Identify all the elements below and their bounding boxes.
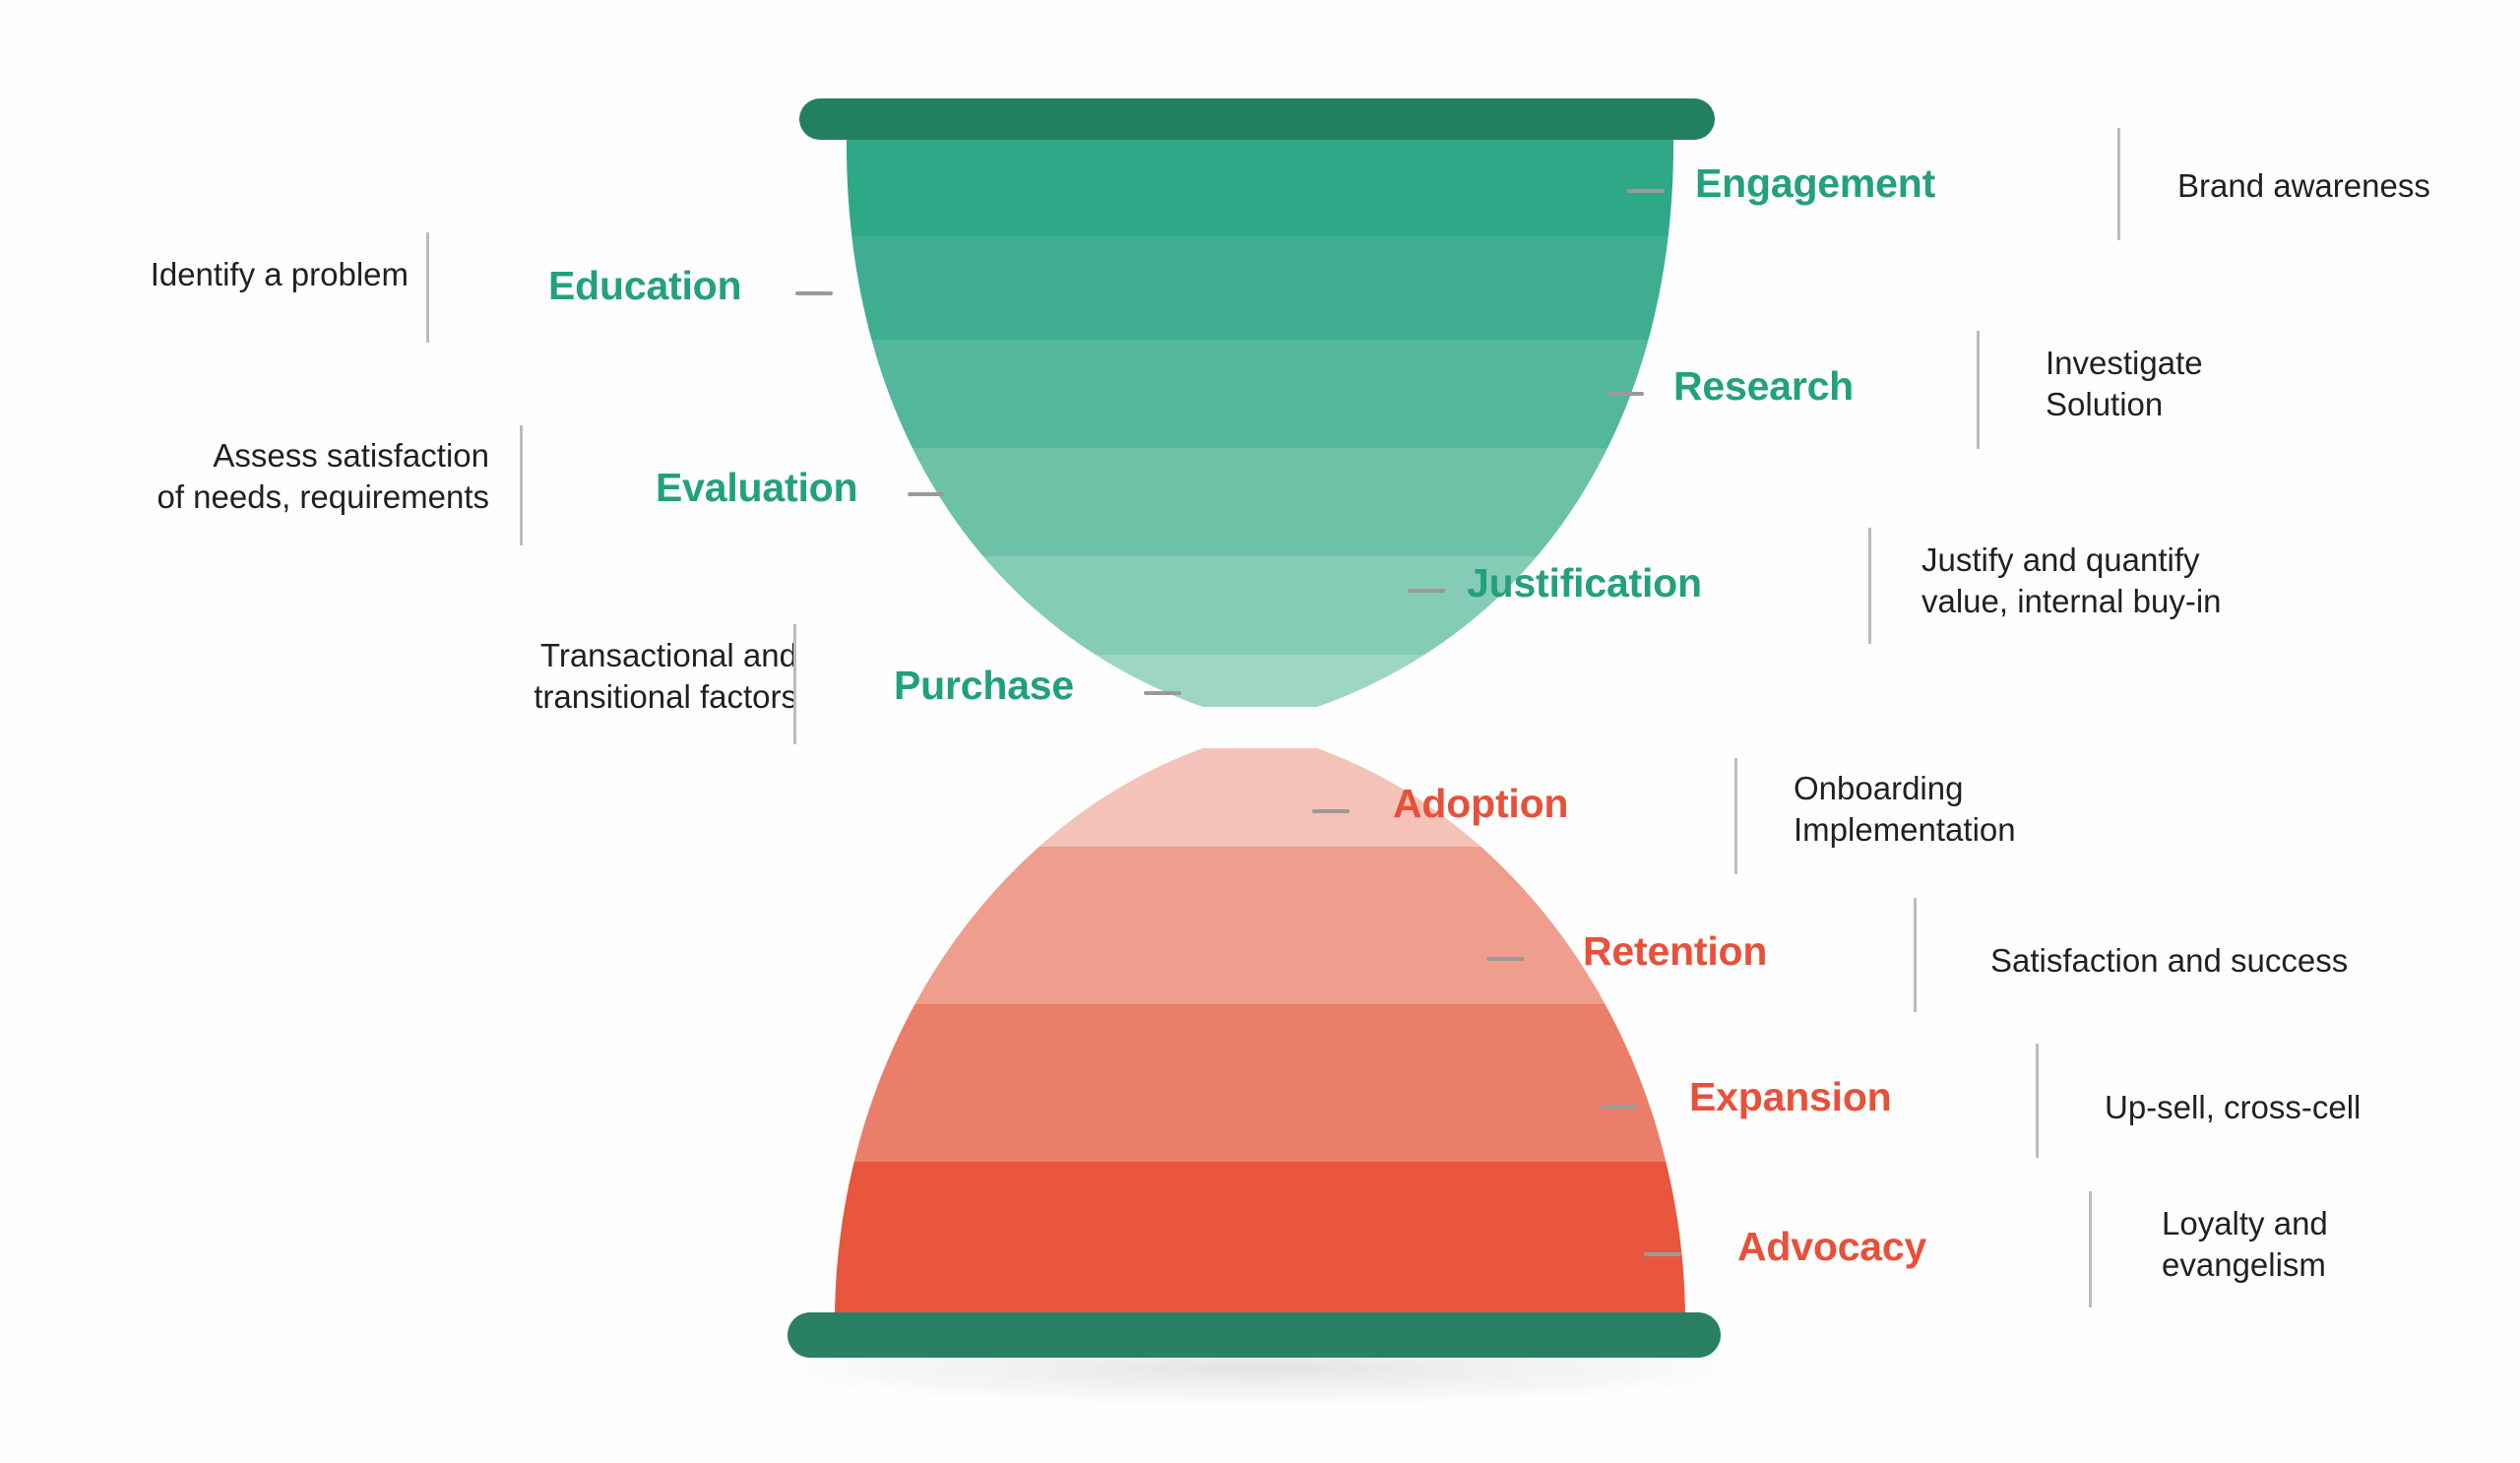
upper-bulb bbox=[807, 128, 1713, 753]
left-divider-purchase bbox=[793, 624, 796, 744]
left-dash-evaluation bbox=[908, 492, 945, 496]
left-stage-label-evaluation[interactable]: Evaluation bbox=[656, 466, 857, 511]
hourglass-graphic bbox=[0, 0, 2520, 1463]
right-divider-justification bbox=[1868, 528, 1871, 644]
right-stage-label-expansion[interactable]: Expansion bbox=[1689, 1075, 1892, 1120]
right-divider-research bbox=[1977, 331, 1980, 449]
left-dash-education bbox=[795, 291, 833, 295]
right-description-justification: Justify and quantify value, internal buy… bbox=[1921, 540, 2345, 622]
right-stage-label-justification[interactable]: Justification bbox=[1467, 561, 1702, 606]
left-divider-evaluation bbox=[520, 425, 523, 545]
right-divider-retention bbox=[1914, 898, 1917, 1012]
right-divider-advocacy bbox=[2089, 1191, 2092, 1307]
right-divider-expansion bbox=[2036, 1044, 2039, 1158]
right-dash-research bbox=[1606, 392, 1644, 396]
right-description-adoption: Onboarding Implementation bbox=[1794, 768, 2187, 851]
right-description-advocacy: Loyalty and evangelism bbox=[2162, 1203, 2496, 1286]
lower-bulb bbox=[807, 738, 1713, 1349]
top-cap bbox=[799, 98, 1715, 140]
right-dash-advocacy bbox=[1644, 1252, 1681, 1256]
right-description-engagement: Brand awareness bbox=[2177, 165, 2520, 207]
left-dash-purchase bbox=[1144, 691, 1181, 695]
left-divider-education bbox=[426, 232, 429, 343]
hourglass-diagram: Identify a problem Education Assess sati… bbox=[0, 0, 2520, 1463]
right-stage-label-research[interactable]: Research bbox=[1673, 364, 1854, 410]
right-dash-justification bbox=[1408, 589, 1445, 593]
right-dash-expansion bbox=[1601, 1105, 1638, 1109]
left-description-purchase: Transactional and transitional factors bbox=[453, 635, 797, 718]
right-description-expansion: Up-sell, cross-cell bbox=[2105, 1087, 2498, 1128]
bottom-cap bbox=[787, 1312, 1721, 1358]
right-dash-retention bbox=[1486, 957, 1524, 961]
left-stage-label-education[interactable]: Education bbox=[548, 264, 741, 309]
right-divider-engagement bbox=[2117, 128, 2120, 240]
left-stage-label-purchase[interactable]: Purchase bbox=[894, 664, 1074, 709]
right-stage-label-engagement[interactable]: Engagement bbox=[1695, 161, 1935, 207]
left-description-education: Identify a problem bbox=[34, 254, 409, 295]
right-stage-label-advocacy[interactable]: Advocacy bbox=[1737, 1225, 1926, 1270]
right-stage-label-retention[interactable]: Retention bbox=[1583, 929, 1767, 975]
left-description-evaluation: Assess satisfaction of needs, requiremen… bbox=[76, 435, 489, 518]
right-description-retention: Satisfaction and success bbox=[1990, 940, 2443, 982]
right-stage-label-adoption[interactable]: Adoption bbox=[1393, 782, 1568, 827]
right-divider-adoption bbox=[1734, 758, 1737, 874]
right-description-research: Investigate Solution bbox=[2046, 343, 2370, 425]
right-dash-adoption bbox=[1312, 809, 1350, 813]
right-dash-engagement bbox=[1627, 189, 1665, 193]
